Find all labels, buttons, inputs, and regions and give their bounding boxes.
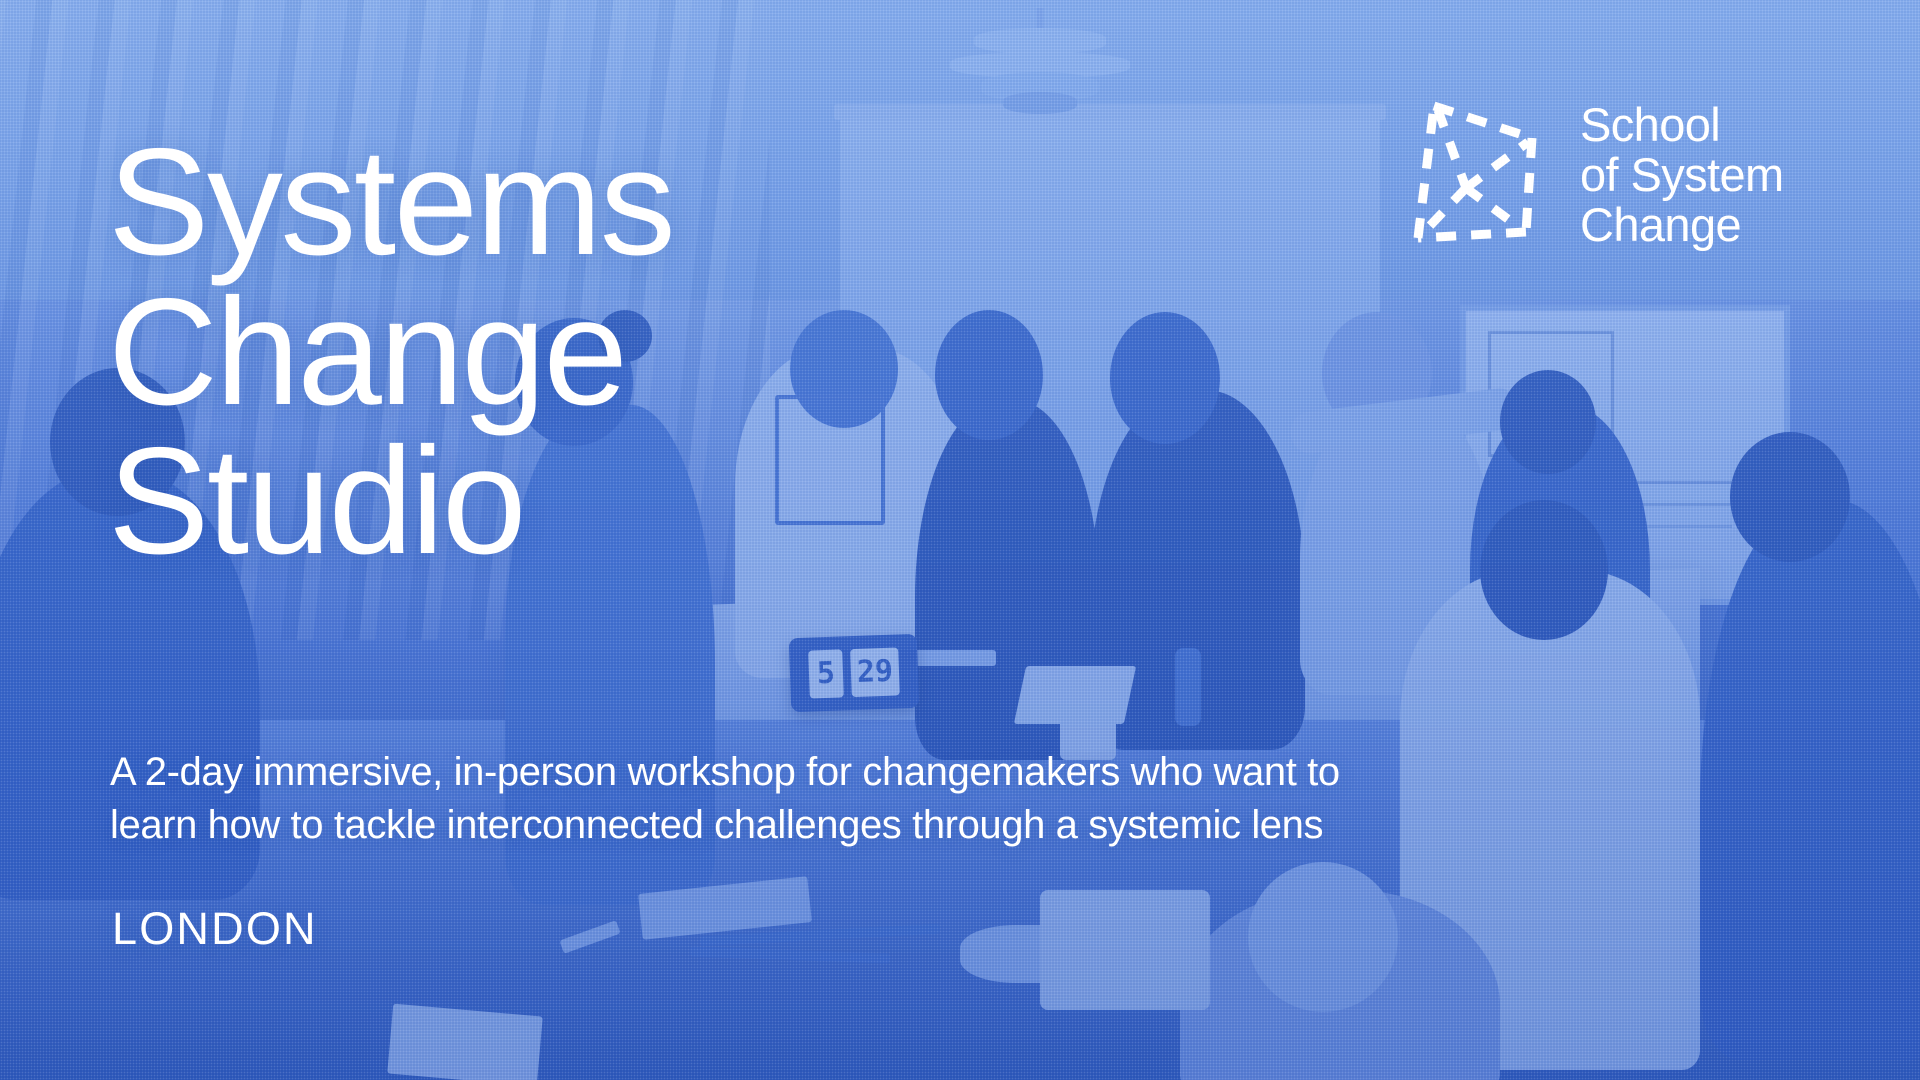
location-label: LONDON [112, 906, 318, 951]
logo-line-2: of System [1580, 150, 1784, 200]
headline-line-1: Systems [108, 128, 673, 278]
page-title: Systems Change Studio [108, 128, 673, 577]
event-banner: 5 29 Systems Change Studio A 2-day immer… [0, 0, 1920, 1080]
logo-text: School of System Change [1580, 92, 1784, 249]
banner-content: Systems Change Studio A 2-day immersive,… [0, 0, 1920, 1080]
subtitle-line-1: A 2-day immersive, in-person workshop fo… [110, 746, 1730, 799]
headline-line-2: Change [108, 278, 673, 428]
subtitle-line-2: learn how to tackle interconnected chall… [110, 799, 1730, 852]
logo-line-3: Change [1580, 200, 1784, 250]
headline-line-3: Studio [108, 427, 673, 577]
dashed-network-mark-icon [1408, 92, 1558, 244]
subtitle: A 2-day immersive, in-person workshop fo… [110, 746, 1730, 852]
logo-line-1: School [1580, 100, 1784, 150]
logo[interactable]: School of System Change [1408, 92, 1784, 249]
